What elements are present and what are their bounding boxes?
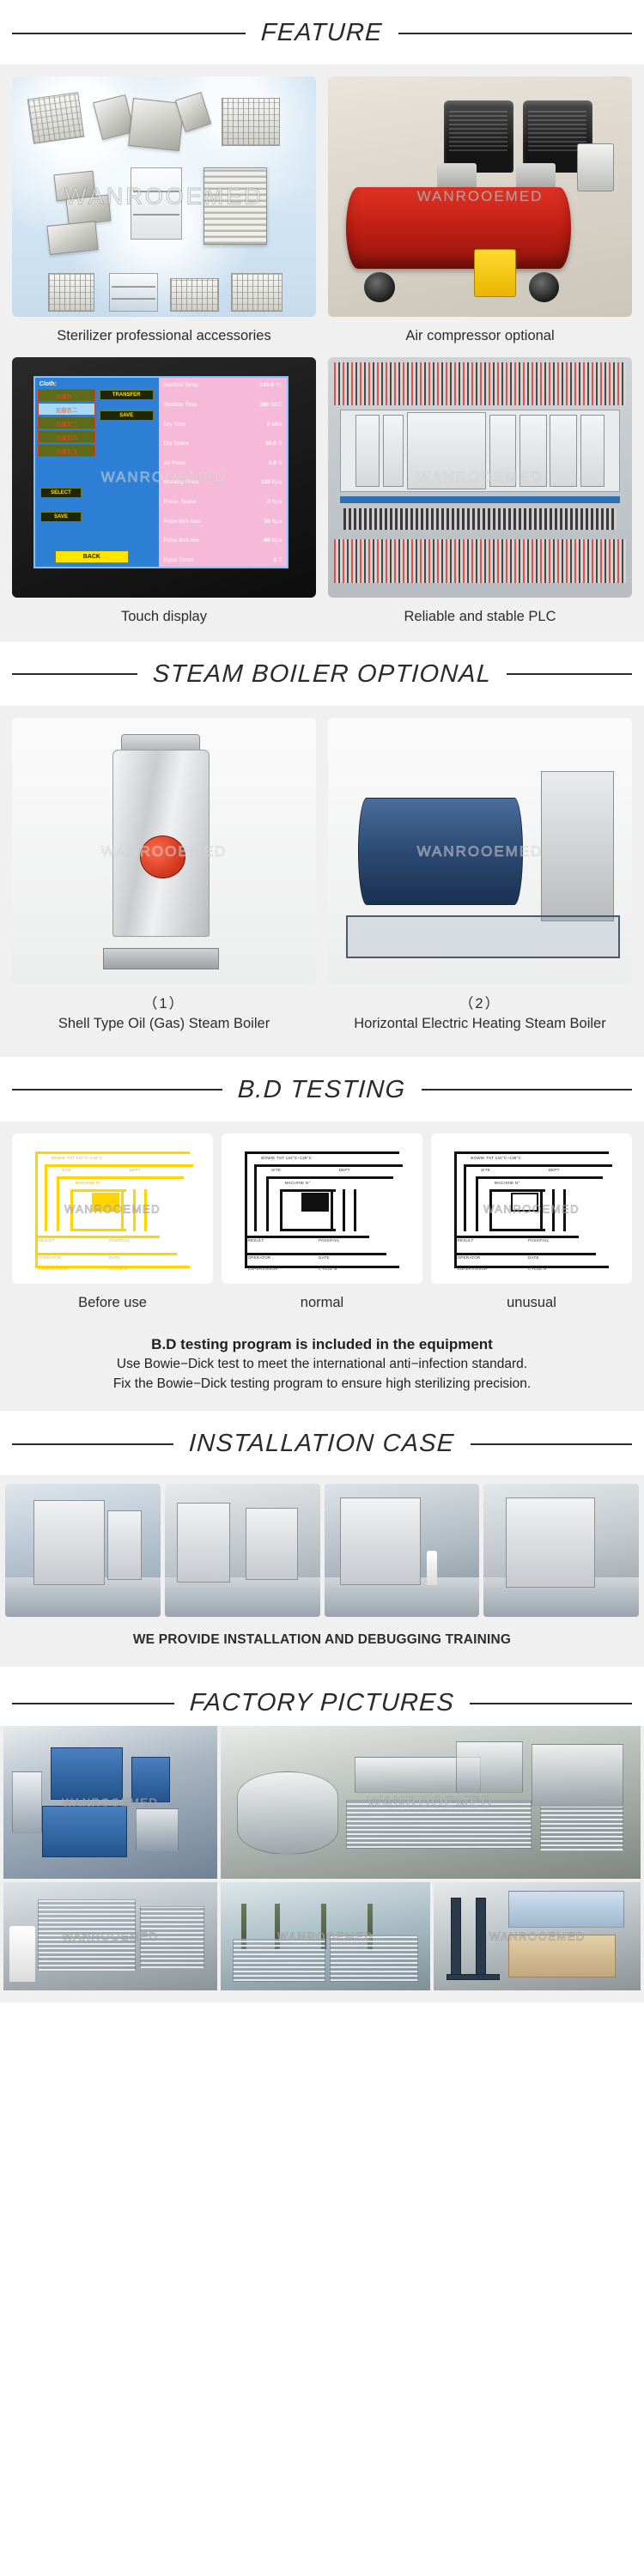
hmi-select-button[interactable]: SELECT — [40, 488, 82, 498]
hmi-screen-title: Cloth: — [38, 380, 156, 388]
bd-label-site: SITE — [271, 1168, 281, 1172]
steam-boiler-title: STEAM BOILER OPTIONAL — [152, 660, 492, 689]
installation-strip — [5, 1484, 639, 1617]
feature-item-plc[interactable]: WANROOEMED Reliable and stable PLC — [328, 357, 632, 638]
feature-item-touch-display[interactable]: Cloth: 无菌衣一 无菌衣二 无菌衣三 无菌衣四 无菌衣五 TRANSFER… — [12, 357, 316, 638]
bd-label-dept: DEPT — [549, 1168, 560, 1172]
touch-display-caption: Touch display — [12, 598, 316, 638]
heading-rule-right — [470, 1703, 632, 1704]
hmi-list-item[interactable]: 无菌衣二 — [38, 403, 96, 416]
hmi-param-row: Working Press 120Kpa — [162, 479, 284, 485]
feature-heading: FEATURE — [0, 0, 644, 64]
heading-rule-left — [12, 1089, 222, 1091]
installation-gallery: WE PROVIDE INSTALLATION AND DEBUGGING TR… — [0, 1475, 644, 1667]
hmi-param-label: Dry Space — [164, 440, 190, 447]
touch-display-image[interactable]: Cloth: 无菌衣一 无菌衣二 无菌衣三 无菌衣四 无菌衣五 TRANSFER… — [12, 357, 316, 598]
bd-caption-unusual: unusual — [431, 1284, 632, 1324]
steam-boiler-gallery: WANROOEMED （1） Shell Type Oil (Gas) Stea… — [0, 706, 644, 1057]
factory-row-2: WANROOEMED WANROOEMED — [3, 1882, 641, 1990]
horizontal-boiler-number: （2） — [331, 994, 629, 1013]
horizontal-boiler-caption: （2） Horizontal Electric Heating Steam Bo… — [328, 985, 632, 1045]
bd-label-operator: OPERATOR — [458, 1255, 481, 1260]
installation-photo[interactable] — [325, 1484, 480, 1617]
horizontal-boiler-label: Horizontal Electric Heating Steam Boiler — [354, 1016, 605, 1031]
factory-photo-worker-racks[interactable]: WANROOEMED — [3, 1882, 217, 1990]
section-bd-testing: B.D TESTING — [0, 1057, 644, 1411]
bd-caption-before-use: Before use — [12, 1284, 213, 1324]
hmi-param-label: Sterilize Temp — [164, 382, 198, 388]
hmi-param-label: Air Press — [164, 460, 186, 466]
bd-desc-line-3: Fix the Bowie−Dick testing program to en… — [14, 1375, 630, 1394]
hmi-param-row: Dry Time 2MIN — [162, 422, 284, 428]
bd-label-passfail: PASS/FAIL — [109, 1238, 130, 1242]
hmi-param-unit: Kpa — [272, 479, 282, 485]
bd-label-machine: MACHINE N° — [285, 1181, 311, 1185]
section-installation-case: INSTALLATION CASE — [0, 1411, 644, 1667]
bd-card-unusual[interactable]: BOWIE TST 134°C~138°C SITE DEPT MACHINE … — [431, 1133, 632, 1285]
hmi-param-value: 180 — [259, 402, 269, 408]
bd-label-supervisor: SUPERVISSOR — [39, 1267, 69, 1271]
accessories-image[interactable]: WANROOEMED — [12, 76, 316, 317]
compressor-caption: Air compressor optional — [328, 317, 632, 357]
bd-label-header: BOWIE TST 134°C~138°C — [52, 1156, 102, 1160]
bd-label-site: SITE — [62, 1168, 71, 1172]
bd-testing-gallery: BOWIE TST 134°C~138°C SITE DEPT MACHINE … — [0, 1121, 644, 1328]
heading-rule-right — [422, 1089, 632, 1091]
factory-photo-forklift-crates[interactable]: WANROOEMED — [434, 1882, 641, 1990]
plc-image[interactable]: WANROOEMED — [328, 357, 632, 598]
feature-title: FEATURE — [260, 19, 383, 47]
hmi-param-value: 0.0 — [269, 460, 276, 466]
hmi-screen[interactable]: Cloth: 无菌衣一 无菌衣二 无菌衣三 无菌衣四 无菌衣五 TRANSFER… — [33, 376, 289, 568]
bd-label-cycle: CYCLE N° — [528, 1267, 548, 1271]
feature-row-1: WANROOEMED Sterilizer professional acces… — [12, 76, 632, 357]
hmi-param-label: Pulse limit-min — [164, 538, 200, 544]
feature-item-compressor[interactable]: WANROOEMED Air compressor optional — [328, 76, 632, 357]
section-steam-boiler: STEAM BOILER OPTIONAL WANROOEMED （1） — [0, 641, 644, 1057]
hmi-param-row: Pulse limit-min -60Kpa — [162, 538, 284, 544]
bd-label-cycle: CYCLE N° — [109, 1267, 129, 1271]
hmi-param-row: Dry Space 60.0S — [162, 440, 284, 447]
bd-item-normal[interactable]: BOWIE TST 134°C~138°C SITE DEPT MACHINE … — [222, 1133, 422, 1325]
boiler-item-shell-type[interactable]: WANROOEMED （1） Shell Type Oil (Gas) Stea… — [12, 718, 316, 1045]
bd-label-site: SITE — [481, 1168, 490, 1172]
plc-caption: Reliable and stable PLC — [328, 598, 632, 638]
bd-label-cycle: CYCLE N° — [319, 1267, 338, 1271]
hmi-param-unit: Kpa — [272, 538, 282, 544]
feature-row-2: Cloth: 无菌衣一 无菌衣二 无菌衣三 无菌衣四 无菌衣五 TRANSFER… — [12, 357, 632, 638]
bd-label-result: RESULT — [458, 1238, 474, 1242]
bd-card-before-use[interactable]: BOWIE TST 134°C~138°C SITE DEPT MACHINE … — [12, 1133, 213, 1285]
bd-card-row: BOWIE TST 134°C~138°C SITE DEPT MACHINE … — [12, 1133, 632, 1325]
hmi-param-label: Pulse Times — [164, 557, 194, 563]
shell-boiler-caption: （1） Shell Type Oil (Gas) Steam Boiler — [12, 985, 316, 1045]
hmi-param-value: -60 — [263, 538, 270, 544]
hmi-param-value: 121.0 — [260, 382, 274, 388]
hmi-param-unit: T — [278, 557, 282, 563]
bd-label-machine: MACHINE N° — [495, 1181, 520, 1185]
bd-label-header: BOWIE TST 134°C~138°C — [261, 1156, 312, 1160]
hmi-param-value: 60.0 — [265, 440, 276, 447]
bd-label-operator: OPERATOR — [248, 1255, 271, 1260]
hmi-transfer-button[interactable]: TRANSFER — [100, 390, 154, 400]
hmi-param-value: 30 — [264, 519, 270, 525]
bd-testing-heading: B.D TESTING — [0, 1057, 644, 1121]
hmi-param-row: Pulse limit-max 30Kpa — [162, 519, 284, 525]
hmi-save2-button[interactable]: SAVE — [40, 512, 82, 522]
accessories-caption: Sterilizer professional accessories — [12, 317, 316, 357]
bd-label-header: BOWIE TST 134°C~138°C — [471, 1156, 521, 1160]
installation-banner: WE PROVIDE INSTALLATION AND DEBUGGING TR… — [5, 1617, 639, 1667]
shell-boiler-image[interactable]: WANROOEMED — [12, 718, 316, 986]
factory-gallery: WANROOEMED WANROOEMED — [0, 1726, 644, 2002]
hmi-param-label: Pulse limit-max — [164, 519, 201, 525]
shell-boiler-label: Shell Type Oil (Gas) Steam Boiler — [58, 1016, 270, 1031]
heading-rule-right — [471, 1443, 632, 1445]
bd-label-date: DATE — [528, 1255, 539, 1260]
feature-gallery: WANROOEMED Sterilizer professional acces… — [0, 64, 644, 641]
hmi-param-value: 3 — [267, 499, 270, 505]
bd-card-normal[interactable]: BOWIE TST 134°C~138°C SITE DEPT MACHINE … — [222, 1133, 422, 1285]
factory-row-1: WANROOEMED WANROOEMED — [3, 1726, 641, 1879]
hmi-param-unit: MIN — [271, 422, 282, 428]
hmi-param-row: Press. Space 3Kpa — [162, 499, 284, 505]
installation-photo[interactable] — [165, 1484, 320, 1617]
bd-label-supervisor: SUPERVISSOR — [248, 1267, 278, 1271]
bd-description: B.D testing program is included in the e… — [0, 1328, 644, 1411]
heading-rule-right — [507, 673, 632, 675]
shell-boiler-number: （1） — [15, 994, 313, 1013]
hmi-param-unit: S — [278, 440, 282, 447]
hmi-param-unit: ℃ — [276, 382, 282, 388]
hmi-param-label: Sterilize Time — [164, 402, 197, 408]
factory-photo-assembly-line[interactable]: WANROOEMED — [221, 1726, 641, 1879]
bd-label-result: RESULT — [39, 1238, 55, 1242]
heading-rule-right — [398, 33, 632, 34]
hmi-param-label: Working Press — [164, 479, 199, 485]
bd-label-dept: DEPT — [339, 1168, 350, 1172]
section-feature: FEATURE — [0, 0, 644, 641]
hmi-param-row: Air Press 0.0S — [162, 460, 284, 466]
factory-photo-outdoor-racks[interactable]: WANROOEMED — [221, 1882, 431, 1990]
section-factory-pictures: FACTORY PICTURES WANROOEMED — [0, 1667, 644, 2002]
hmi-list-item[interactable]: 无菌衣五 — [38, 444, 96, 457]
hmi-param-row: Sterilize Temp 121.0℃ — [162, 381, 284, 388]
heading-rule-left — [12, 33, 246, 34]
hmi-cloth-list[interactable]: 无菌衣一 无菌衣二 无菌衣三 无菌衣四 无菌衣五 — [38, 389, 96, 458]
installation-photo[interactable] — [483, 1484, 639, 1617]
horizontal-boiler-image[interactable]: WANROOEMED — [328, 718, 632, 986]
hmi-back-button[interactable]: BACK — [55, 550, 129, 563]
hmi-param-value: 2 — [274, 557, 277, 563]
hmi-parameter-panel: Sterilize Temp 121.0℃ Sterilize Time 180… — [159, 378, 288, 567]
hmi-param-value: 120 — [261, 479, 270, 485]
bd-testing-title: B.D TESTING — [237, 1076, 406, 1104]
installation-heading: INSTALLATION CASE — [0, 1411, 644, 1475]
hmi-list-item[interactable]: 无菌衣四 — [38, 430, 96, 443]
steam-boiler-row: WANROOEMED （1） Shell Type Oil (Gas) Stea… — [12, 718, 632, 1045]
factory-title: FACTORY PICTURES — [189, 1689, 455, 1717]
hmi-param-unit: Kpa — [272, 499, 282, 505]
hmi-param-row: Sterilize Time 180SEC — [162, 402, 284, 408]
installation-title: INSTALLATION CASE — [188, 1430, 455, 1458]
steam-boiler-heading: STEAM BOILER OPTIONAL — [0, 641, 644, 706]
hmi-list-item[interactable]: 无菌衣三 — [38, 416, 96, 429]
factory-heading: FACTORY PICTURES — [0, 1667, 644, 1726]
bd-item-before-use[interactable]: BOWIE TST 134°C~138°C SITE DEPT MACHINE … — [12, 1133, 213, 1325]
compressor-image[interactable]: WANROOEMED — [328, 76, 632, 317]
bd-label-date: DATE — [109, 1255, 120, 1260]
bd-label-dept: DEPT — [130, 1168, 141, 1172]
installation-photo[interactable] — [5, 1484, 161, 1617]
feature-item-accessories[interactable]: WANROOEMED Sterilizer professional acces… — [12, 76, 316, 357]
bd-label-passfail: PASS/FAIL — [319, 1238, 339, 1242]
bd-desc-line-1: B.D testing program is included in the e… — [14, 1334, 630, 1356]
bd-label-supervisor: SUPERVISSOR — [458, 1267, 488, 1271]
heading-rule-left — [12, 1703, 174, 1704]
bd-label-date: DATE — [319, 1255, 330, 1260]
bd-label-operator: OPERATOR — [39, 1255, 62, 1260]
bd-label-passfail: PASS/FAIL — [528, 1238, 549, 1242]
bd-label-machine: MACHINE N° — [76, 1181, 101, 1185]
hmi-param-label: Press. Space — [164, 499, 197, 505]
hmi-param-value: 2 — [267, 422, 270, 428]
heading-rule-left — [12, 1443, 173, 1445]
bd-desc-line-2: Use Bowie−Dick test to meet the internat… — [14, 1355, 630, 1374]
hmi-save-button[interactable]: SAVE — [100, 410, 154, 421]
hmi-param-unit: Kpa — [272, 519, 282, 525]
boiler-item-horizontal-electric[interactable]: WANROOEMED （2） Horizontal Electric Heati… — [328, 718, 632, 1045]
bd-caption-normal: normal — [222, 1284, 422, 1324]
factory-photo-water-treatment[interactable]: WANROOEMED — [3, 1726, 217, 1879]
hmi-param-label: Dry Time — [164, 422, 186, 428]
hmi-param-unit: S — [278, 460, 282, 466]
bd-label-result: RESULT — [248, 1238, 264, 1242]
hmi-param-unit: SEC — [270, 402, 282, 408]
bd-item-unusual[interactable]: BOWIE TST 134°C~138°C SITE DEPT MACHINE … — [431, 1133, 632, 1325]
hmi-param-row: Pulse Times 2T — [162, 557, 284, 563]
hmi-list-item[interactable]: 无菌衣一 — [38, 389, 96, 402]
heading-rule-left — [12, 673, 137, 675]
